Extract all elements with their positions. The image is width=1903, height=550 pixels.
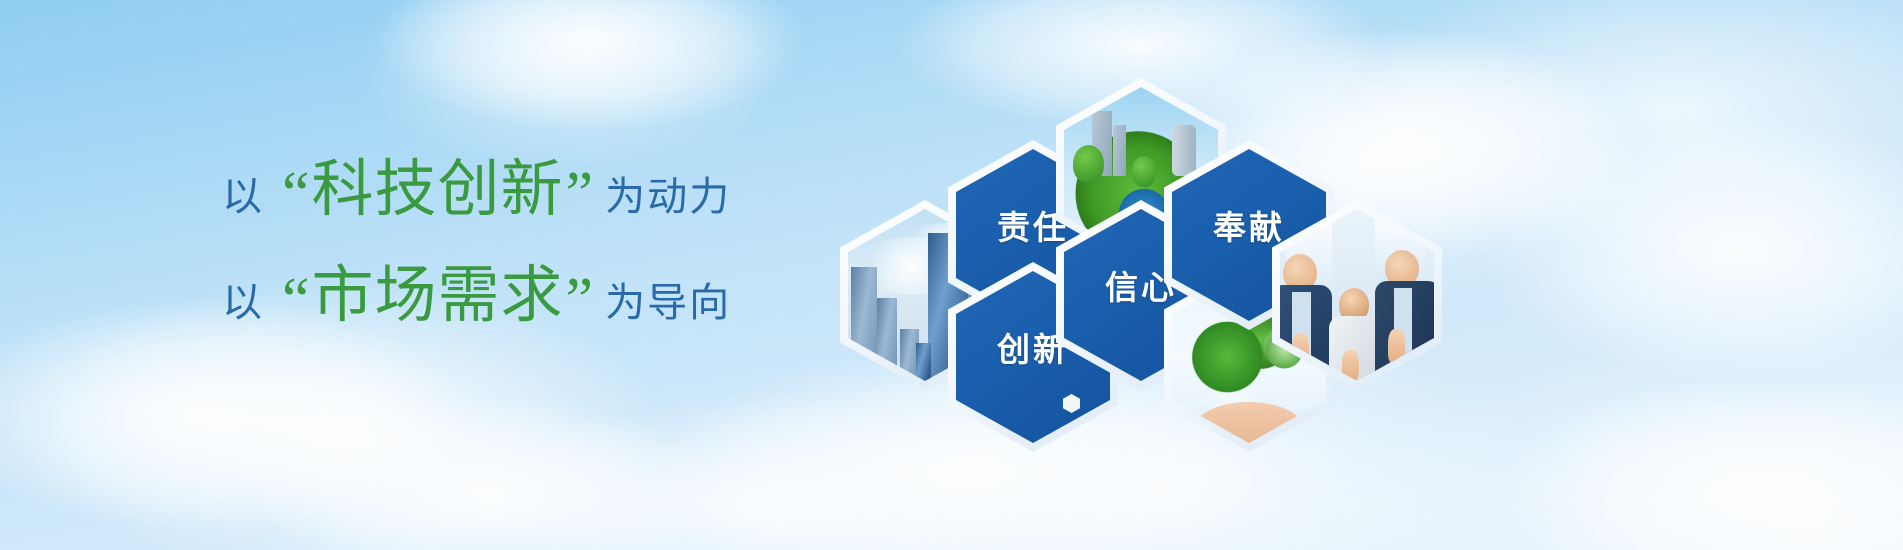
business-team-thumbs-up-photo xyxy=(1280,209,1434,381)
cloud-wisp xyxy=(1480,120,1903,380)
slogan-line-2: 以 “ 市场需求 ” 为导向 xyxy=(222,244,782,334)
slogan-line-2-highlight: 市场需求 xyxy=(310,244,566,334)
hexagon-dedication-label: 奉献 xyxy=(1213,201,1285,249)
slogan-line-2-prefix: 以 xyxy=(222,270,264,328)
slogan-line-1-prefix: 以 xyxy=(222,164,264,222)
slogan-line-2-suffix: 为导向 xyxy=(605,270,731,328)
slogan-line-2-open-quote: “ xyxy=(282,269,310,331)
slogan-line-1-open-quote: “ xyxy=(282,163,310,225)
slogan-block: 以 “ 科技创新 ” 为动力 以 “ 市场需求 ” 为导向 xyxy=(222,138,782,350)
hexagon-dot-icon xyxy=(1063,394,1080,413)
hexagon-team-photo-inner xyxy=(1280,209,1434,381)
slogan-line-1-suffix: 为动力 xyxy=(605,164,731,222)
slogan-line-1: 以 “ 科技创新 ” 为动力 xyxy=(222,138,782,228)
cloud-wisp xyxy=(1500,380,1903,550)
promo-banner: 以 “ 科技创新 ” 为动力 以 “ 市场需求 ” 为导向 责任创新信心奉献 xyxy=(0,0,1903,550)
slogan-line-1-close-quote: ” xyxy=(566,163,594,225)
slogan-line-1-highlight: 科技创新 xyxy=(310,138,566,228)
hand-shape xyxy=(1190,402,1307,443)
cloud-wisp xyxy=(380,0,800,130)
hexagon-cluster: 责任创新信心奉献 xyxy=(820,40,1440,440)
cloud-wisp xyxy=(260,400,720,550)
slogan-line-2-close-quote: ” xyxy=(566,269,594,331)
